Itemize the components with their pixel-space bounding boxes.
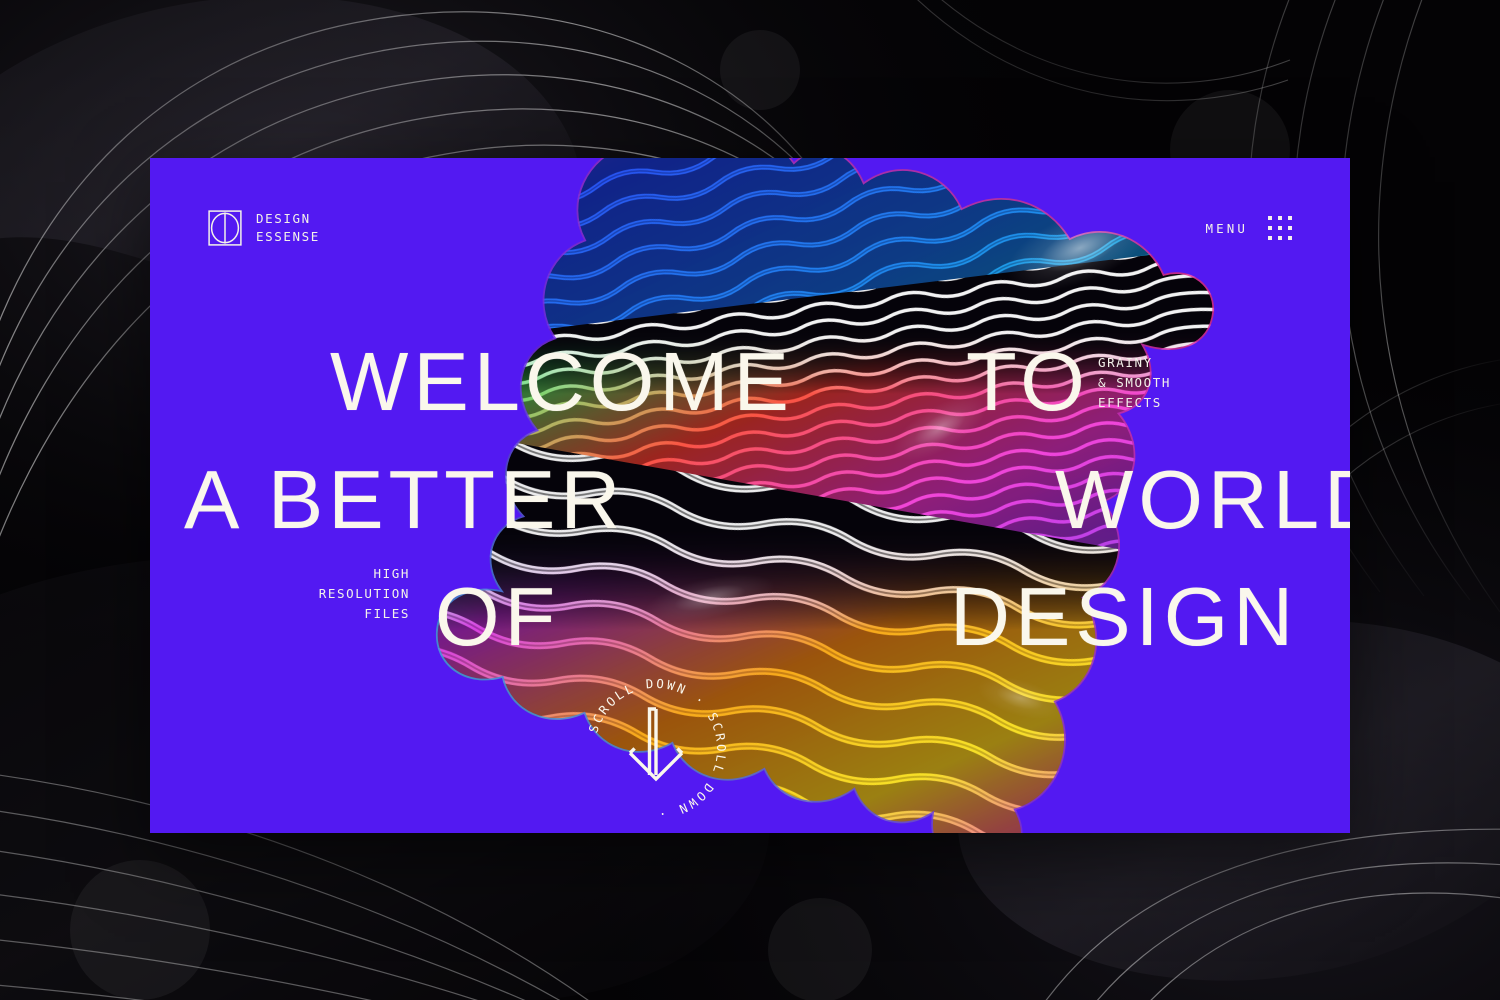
arrow-down-outline-icon [630,709,682,779]
hero-card: DESIGN ESSENSE MENU WELCOME TO A BETTER … [150,158,1350,833]
brand-name: DESIGN ESSENSE [256,210,320,246]
label-high-resolution-files: HIGH RESOLUTION FILES [210,564,410,624]
headline-a-better: A BETTER [184,466,625,534]
headline-to: TO [966,348,1090,416]
grid-dots-icon [1268,216,1292,240]
hero-header: DESIGN ESSENSE MENU [150,158,1350,298]
headline-design: DESIGN [950,583,1298,651]
brand-logo[interactable]: DESIGN ESSENSE [208,210,320,246]
headline-welcome: WELCOME [330,348,794,416]
headline-of: OF [435,583,560,651]
label-grainy-smooth-effects: GRAINY & SMOOTH EFFECTS [1098,353,1288,413]
scroll-down-button[interactable]: SCROLL DOWN · SCROLL DOWN · [578,671,734,827]
menu-label: MENU [1205,221,1248,236]
circle-in-square-logo-icon [208,210,242,246]
headline-world: WORLD [1055,466,1350,534]
menu-button[interactable]: MENU [1205,216,1292,240]
scroll-down-graphic: SCROLL DOWN · SCROLL DOWN · [578,671,734,827]
